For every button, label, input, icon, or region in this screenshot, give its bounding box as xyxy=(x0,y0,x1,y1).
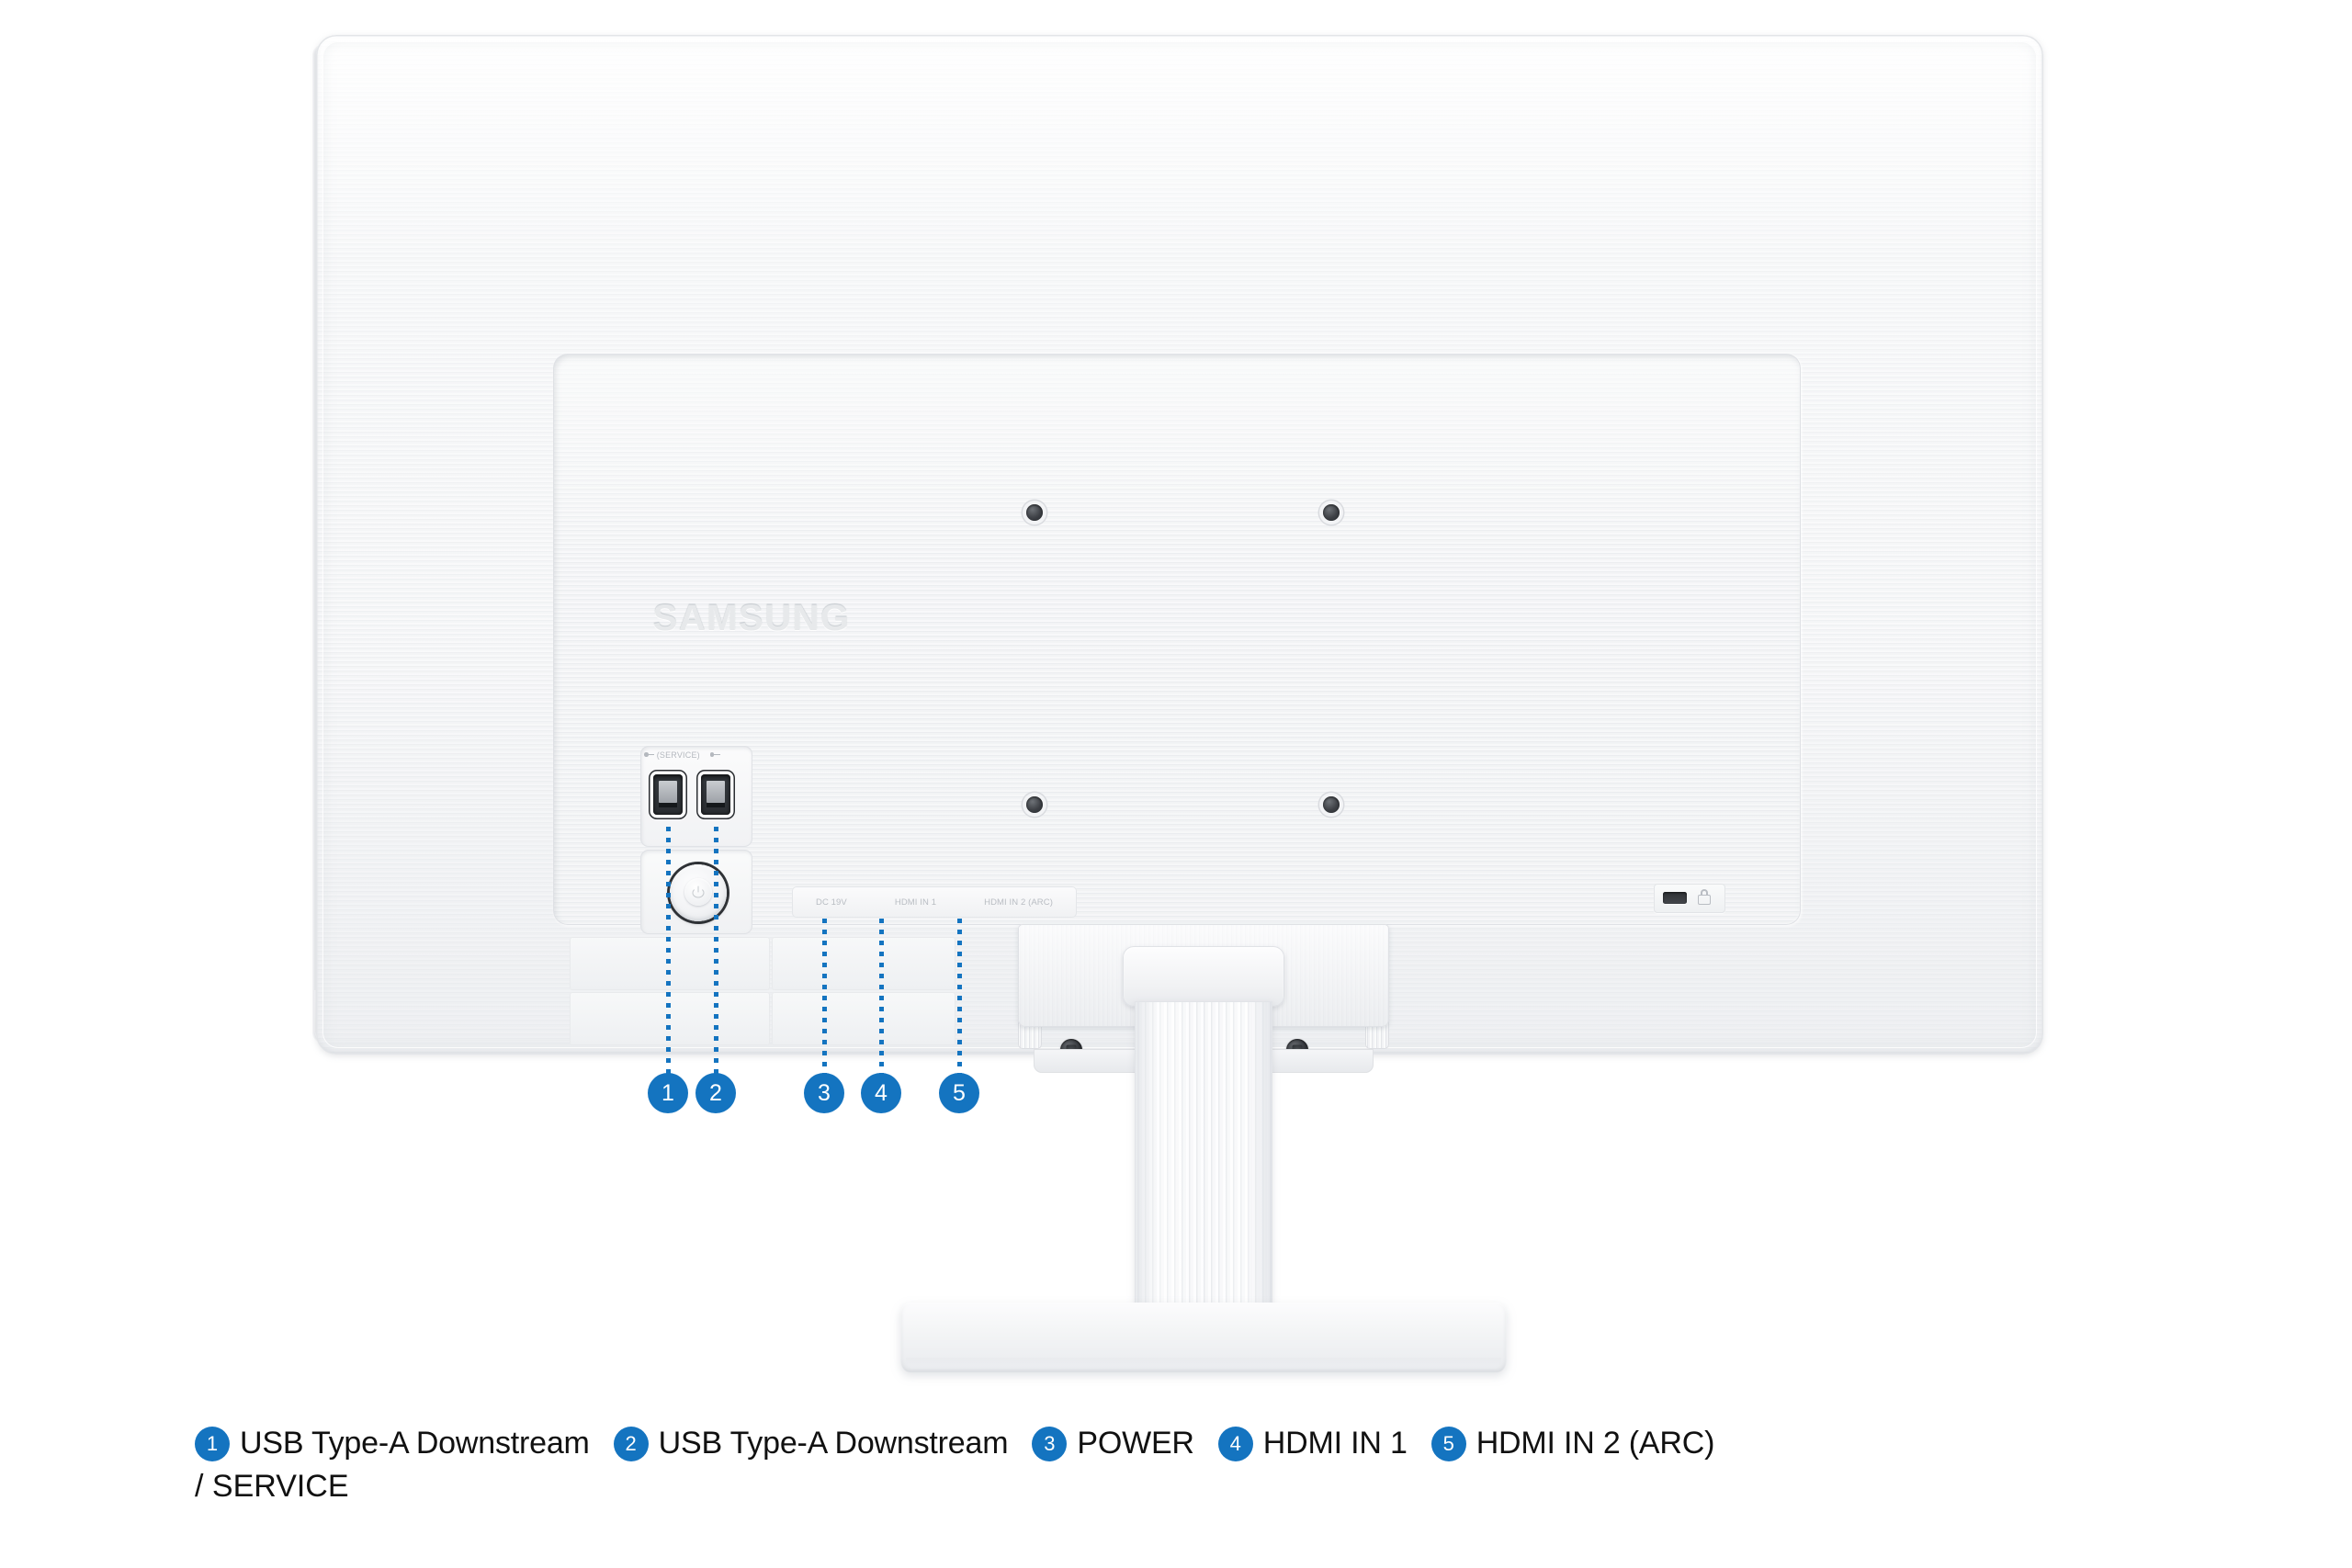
legend-badge-1: 1 xyxy=(195,1427,230,1461)
stand-base-plate xyxy=(900,1303,1507,1372)
callout-badge-3: 3 xyxy=(804,1073,844,1113)
callout-badge-1: 1 xyxy=(648,1073,688,1113)
legend-continuation: / SERVICE xyxy=(195,1469,2198,1505)
vesa-hole-bottom-right xyxy=(1323,796,1340,813)
legend-badge-2: 2 xyxy=(614,1427,649,1461)
port-row-labels: DC 19V HDMI IN 1 HDMI IN 2 (ARC) xyxy=(792,894,1077,910)
stand-neck-column xyxy=(1135,1001,1272,1341)
leader-line-1 xyxy=(666,827,671,1075)
legend-label-3: POWER xyxy=(1077,1426,1193,1461)
vesa-hole-bottom-left xyxy=(1026,796,1043,813)
samsung-logo: SAMSUNG xyxy=(646,598,857,639)
legend-line-primary: 1 USB Type-A Downstream 2 USB Type-A Dow… xyxy=(195,1426,2198,1467)
callout-badge-4: 4 xyxy=(861,1073,901,1113)
legend-label-2: USB Type-A Downstream xyxy=(659,1426,1009,1461)
kensington-lock-icon xyxy=(1698,889,1711,906)
legend-label-1: USB Type-A Downstream xyxy=(240,1426,590,1461)
usb-service-label: (SERVICE) xyxy=(657,750,700,760)
joystick-cap xyxy=(684,878,712,906)
legend-badge-3: 3 xyxy=(1032,1427,1067,1461)
legend-label-5: HDMI IN 2 (ARC) xyxy=(1476,1426,1715,1461)
legend-item-5: 5 HDMI IN 2 (ARC) xyxy=(1431,1426,1715,1461)
stand-neck-cap xyxy=(1123,946,1284,1007)
hdmi-in-1-label: HDMI IN 1 xyxy=(895,897,936,908)
vent-panel-3 xyxy=(772,937,955,990)
callout-badge-2: 2 xyxy=(695,1073,736,1113)
leader-line-3 xyxy=(822,919,827,1075)
legend-label-4: HDMI IN 1 xyxy=(1263,1426,1408,1461)
legend-item-4: 4 HDMI IN 1 xyxy=(1218,1426,1408,1461)
hdmi-in-2-label: HDMI IN 2 (ARC) xyxy=(984,897,1053,908)
legend-item-1: 1 USB Type-A Downstream xyxy=(195,1426,590,1461)
vesa-hole-top-left xyxy=(1026,504,1043,521)
legend-item-2: 2 USB Type-A Downstream xyxy=(614,1426,1009,1461)
monitor-rear-view-diagram: SAMSUNG (SERVICE) DC 19V HDMI IN 1 xyxy=(0,0,2352,1415)
leader-line-2 xyxy=(714,827,718,1075)
vesa-hole-top-right xyxy=(1323,504,1340,521)
legend-badge-4: 4 xyxy=(1218,1427,1253,1461)
usb-trident-icon-2 xyxy=(710,750,720,759)
kensington-lock-slot xyxy=(1663,892,1687,904)
usb-type-a-port-1 xyxy=(653,774,683,815)
legend-badge-5: 5 xyxy=(1431,1427,1466,1461)
usb-trident-icon-1 xyxy=(644,750,654,759)
usb-port-labels: (SERVICE) xyxy=(644,750,751,765)
legend-item-3: 3 POWER xyxy=(1032,1426,1193,1461)
leader-line-4 xyxy=(879,919,884,1075)
leader-line-5 xyxy=(957,919,962,1075)
dc-in-label: DC 19V xyxy=(816,897,847,908)
port-legend: 1 USB Type-A Downstream 2 USB Type-A Dow… xyxy=(195,1426,2198,1505)
vent-panel-4 xyxy=(772,992,955,1045)
callout-badge-5: 5 xyxy=(939,1073,979,1113)
usb-type-a-port-2 xyxy=(701,774,730,815)
power-icon xyxy=(693,886,705,898)
